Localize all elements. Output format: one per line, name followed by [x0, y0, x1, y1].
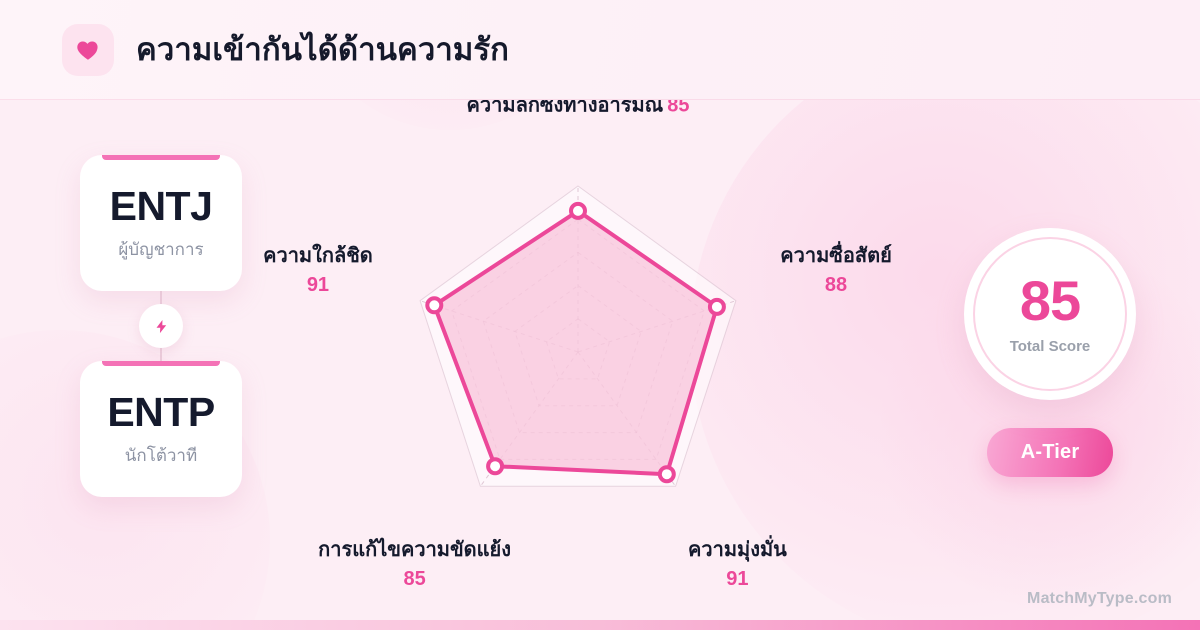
axis-label-text-1: ความซื่อสัตย์: [780, 245, 892, 267]
axis-label-value-3: 85: [318, 567, 511, 592]
radar-chart: ความลึกซึ้งทางอารมณ์85 ความซื่อสัตย์88 ค…: [300, 120, 860, 600]
axis-label-value-2: 91: [688, 567, 787, 592]
type-code-second: ENTP: [107, 392, 214, 433]
radar-point-1: [710, 300, 724, 314]
total-score-circle: 85 Total Score: [964, 228, 1136, 400]
type-name-second: นักโต้วาที: [125, 446, 197, 466]
axis-label-text-3: การแก้ไขความขัดแย้ง: [318, 539, 511, 561]
radar-axis-label-1: ความซื่อสัตย์88: [780, 244, 892, 298]
tier-badge: A-Tier: [987, 428, 1114, 477]
type-connector: [80, 291, 242, 361]
page-title: ความเข้ากันได้ด้านความรัก: [136, 31, 509, 70]
compatibility-infographic: ความเข้ากันได้ด้านความรัก ENTJ ผู้บัญชาก…: [0, 0, 1200, 630]
score-summary: 85 Total Score A-Tier: [960, 228, 1140, 477]
radar-axis-label-2: ความมุ่งมั่น91: [688, 538, 787, 592]
radar-chart-svg: [300, 120, 860, 600]
page-header: ความเข้ากันได้ด้านความรัก: [0, 0, 1200, 100]
radar-point-4: [427, 298, 441, 312]
radar-axis-label-4: ความใกล้ชิด91: [263, 244, 373, 298]
total-score-label: Total Score: [1010, 338, 1091, 355]
watermark: MatchMyType.com: [1027, 590, 1172, 608]
axis-label-text-4: ความใกล้ชิด: [263, 245, 373, 267]
type-card-second[interactable]: ENTP นักโต้วาที: [80, 361, 242, 497]
type-code-first: ENTJ: [110, 186, 213, 227]
radar-point-2: [660, 467, 674, 481]
card-accent-bar: [102, 361, 220, 366]
axis-label-text-2: ความมุ่งมั่น: [688, 539, 787, 561]
card-accent-bar: [102, 155, 220, 160]
type-card-first[interactable]: ENTJ ผู้บัญชาการ: [80, 155, 242, 291]
radar-point-3: [488, 459, 502, 473]
radar-axis-label-3: การแก้ไขความขัดแย้ง85: [318, 538, 511, 592]
radar-point-0: [571, 204, 585, 218]
footer-gradient-bar: [0, 620, 1200, 630]
type-pair: ENTJ ผู้บัญชาการ ENTP นักโต้วาที: [80, 155, 242, 497]
axis-label-value-4: 91: [263, 273, 373, 298]
lightning-bolt-icon: [139, 304, 183, 348]
type-name-first: ผู้บัญชาการ: [118, 240, 203, 260]
axis-label-value-1: 88: [780, 273, 892, 298]
total-score-value: 85: [1020, 273, 1080, 329]
heart-icon: [62, 24, 114, 76]
